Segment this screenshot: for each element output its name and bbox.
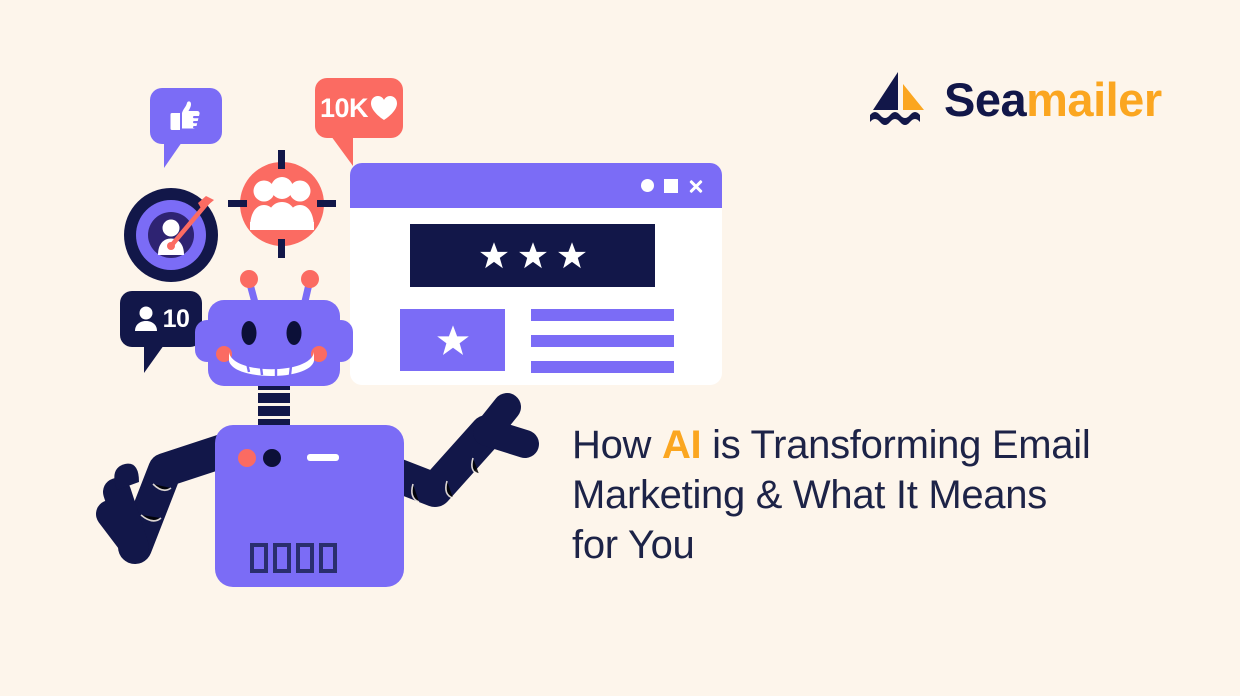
- sailboat-icon: [868, 70, 930, 128]
- robot-eye-left: [242, 321, 257, 345]
- robot-eye-right: [287, 321, 302, 345]
- brand-name-secondary: mailer: [1026, 73, 1161, 126]
- badge-likes-count: 10K: [315, 78, 403, 138]
- brand-wordmark: Seamailer: [944, 76, 1162, 123]
- robot-head: [195, 300, 353, 386]
- robot-body-bar: [307, 454, 339, 461]
- robot-neck: [258, 380, 290, 427]
- likes-count-label: 10K: [320, 93, 368, 124]
- star-icon: [557, 241, 587, 270]
- robot-button-red: [238, 449, 256, 467]
- close-x-icon[interactable]: [688, 178, 704, 194]
- badge-crosshair-group: [228, 150, 336, 258]
- headline-accent-word: AI: [662, 423, 701, 467]
- brand-name-primary: Sea: [944, 73, 1026, 126]
- bubble-tail: [164, 142, 182, 168]
- heart-icon: [370, 95, 398, 121]
- thumbs-up-icon: [169, 100, 203, 132]
- headline-before-accent: How: [572, 423, 662, 467]
- maximize-square-icon[interactable]: [664, 179, 678, 193]
- robot-mascot: [95, 262, 555, 587]
- brand-logo[interactable]: Seamailer: [868, 70, 1162, 128]
- minimize-circle-icon[interactable]: [641, 179, 654, 192]
- browser-titlebar: [350, 163, 722, 208]
- robot-button-dark: [263, 449, 281, 467]
- poster-canvas: Seamailer: [0, 0, 1240, 696]
- robot-body: [215, 425, 404, 587]
- page-title: How AI is Transforming Email Marketing &…: [572, 420, 1092, 570]
- badge-thumbs-up: [150, 88, 222, 144]
